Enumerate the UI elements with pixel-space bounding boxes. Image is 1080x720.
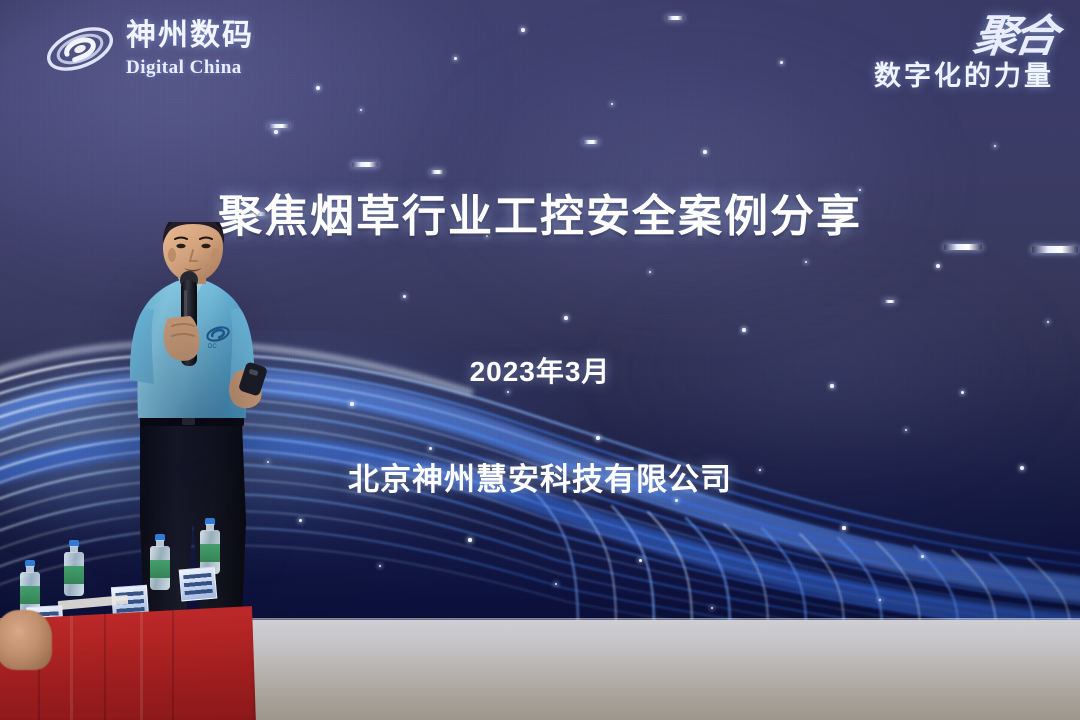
name-card	[179, 566, 218, 601]
light-streak-dash	[268, 124, 290, 128]
sparkle-dot	[299, 519, 302, 522]
bottle-label	[20, 586, 40, 604]
sparkle-dot	[1047, 321, 1050, 324]
sparkle-dot	[429, 447, 432, 450]
sparkle-dot	[521, 28, 525, 32]
sparkle-dot	[703, 150, 706, 153]
event-logo: 聚合 数字化的力量	[874, 16, 1054, 93]
light-streak-dash	[1032, 246, 1078, 253]
seated-attendee	[0, 610, 52, 670]
sparkle-dot	[994, 145, 997, 148]
sparkle-dot	[596, 436, 599, 439]
brand-name-cn: 神州数码	[126, 21, 254, 51]
sparkle-dot	[350, 402, 353, 405]
digital-china-swirl-icon	[44, 18, 116, 80]
sparkle-dot	[961, 391, 964, 394]
light-streak-dash	[666, 16, 684, 20]
conference-photo: 神州数码 Digital China 聚合 数字化的力量 聚焦烟草行业工控安全案…	[0, 0, 1080, 720]
bottle-label	[200, 544, 220, 562]
light-streak-dash	[352, 162, 378, 167]
sparkle-dot	[564, 316, 568, 320]
bottle-label	[150, 560, 170, 578]
sparkle-dot	[468, 538, 471, 541]
speaker-eye-left	[176, 244, 185, 249]
sparkle-dot	[842, 526, 845, 529]
sparkle-dot	[921, 555, 924, 558]
sparkle-dot	[780, 61, 783, 64]
bottle-label	[64, 566, 84, 584]
event-logo-mark: 聚合	[971, 16, 1057, 58]
light-streak-dash	[583, 140, 599, 144]
digital-china-logo: 神州数码 Digital China	[44, 18, 254, 80]
light-streak-dash	[430, 170, 444, 174]
speaker-eye-right	[201, 244, 210, 249]
brand-name-en: Digital China	[126, 58, 254, 77]
sparkle-dot	[742, 328, 745, 331]
sparkle-dot	[639, 559, 642, 562]
sparkle-dot	[316, 86, 320, 90]
sparkle-dot	[403, 295, 406, 298]
sparkle-dot	[454, 57, 457, 60]
light-streak-dash	[884, 300, 896, 303]
speaker-figure: DC	[96, 222, 286, 622]
sparkle-dot	[274, 130, 277, 133]
light-streak-dash	[944, 244, 982, 250]
sparkle-dot	[936, 264, 940, 268]
name-card-text	[183, 573, 213, 595]
